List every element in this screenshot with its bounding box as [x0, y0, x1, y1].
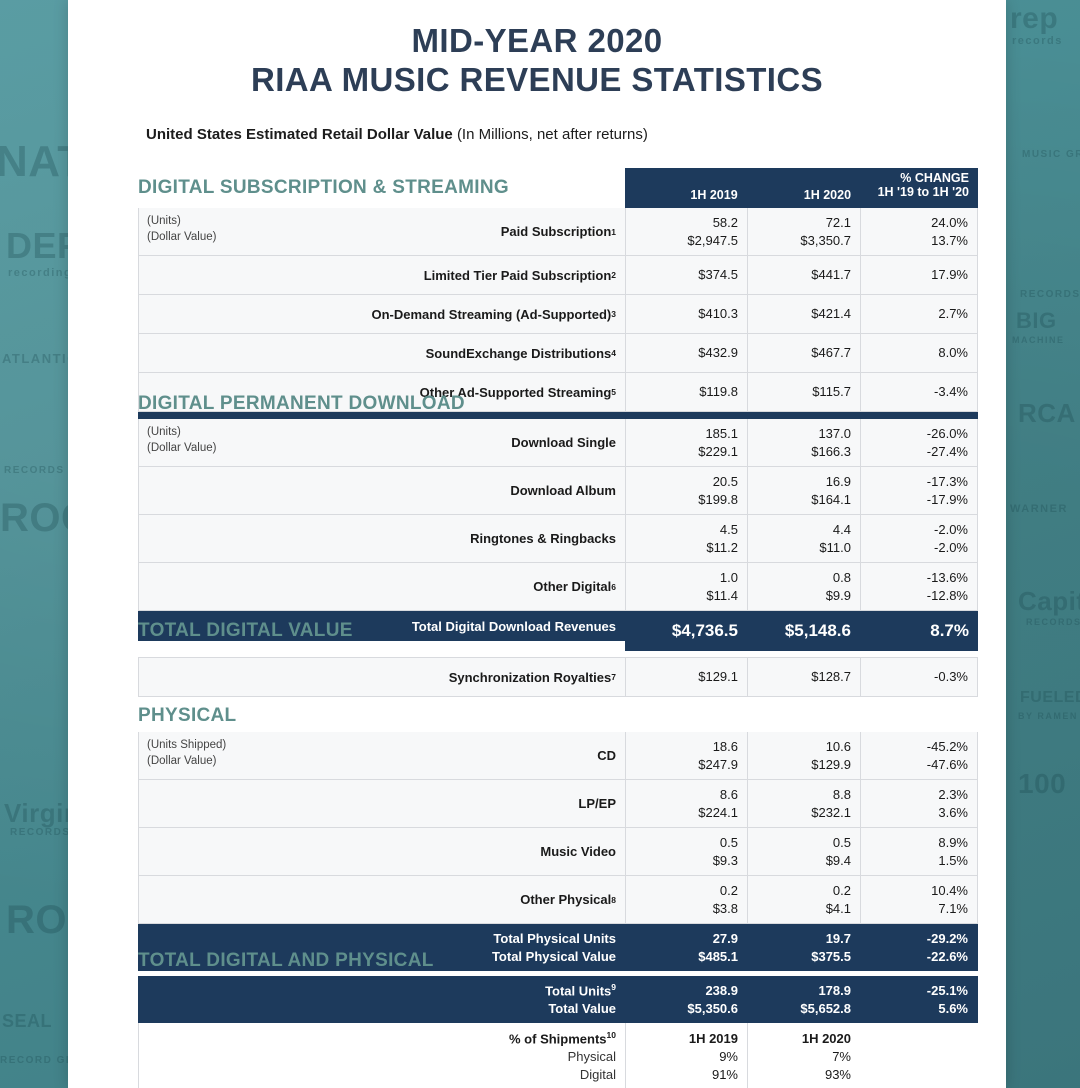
shipments-value: 91% [712, 1066, 738, 1084]
cell-value: $9.9 [826, 587, 851, 605]
shipments-year1: 1H 20199%91% [625, 1023, 747, 1088]
cell-change: 17.9% [860, 256, 978, 294]
cell-value: 0.5 [720, 834, 738, 852]
cell-value: $410.3 [698, 305, 738, 323]
shipments-value: 1H 2019 [689, 1030, 738, 1048]
units-note: (Units Shipped)(Dollar Value) [147, 738, 226, 769]
cell-value: -2.0% [934, 521, 968, 539]
cell-year2: $441.7 [747, 256, 860, 294]
row-label-text: Synchronization Royalties [449, 670, 612, 685]
total-digital-value-bar: $4,736.5$5,148.68.7% [625, 611, 978, 651]
section-heading-grand-total: TOTAL DIGITAL AND PHYSICAL [138, 946, 978, 976]
total-label-line: Total Value [548, 1000, 616, 1018]
row-label: Synchronization Royalties7 [138, 658, 625, 696]
cell-change: 24.0%13.7% [860, 208, 978, 255]
cell-year1: 185.1$229.1 [625, 419, 747, 466]
cell-value: 13.7% [931, 232, 968, 250]
cell-year2: $128.7 [747, 658, 860, 696]
footnote-marker: 2 [611, 270, 616, 280]
cell-change: -45.2%-47.6% [860, 732, 978, 779]
cell-value: -17.9% [927, 491, 968, 509]
total-digital-value-label: TOTAL DIGITAL VALUE [138, 620, 353, 642]
cell-year1: 58.2$2,947.5 [625, 208, 747, 255]
shipments-value: 93% [825, 1066, 851, 1084]
cell-value: $2,947.5 [687, 232, 738, 250]
cell-value: $164.1 [811, 491, 851, 509]
cell-value: 8.0% [938, 344, 968, 362]
cell-value: $374.5 [698, 266, 738, 284]
cell-value: 0.8 [833, 569, 851, 587]
row-label-text: Limited Tier Paid Subscription [424, 268, 612, 283]
cell-year2: 137.0$166.3 [747, 419, 860, 466]
table-row: SoundExchange Distributions4$432.9$467.7… [138, 334, 978, 373]
footnote-marker: 3 [611, 309, 616, 319]
table-block: PHYSICAL(Units Shipped)(Dollar Value)CD1… [138, 700, 978, 971]
record-label-watermark: RECORDS [1020, 290, 1080, 300]
total-year2: 178.9$5,652.8 [747, 976, 860, 1023]
cell-year1: $129.1 [625, 658, 747, 696]
cell-value: $467.7 [811, 344, 851, 362]
record-label-watermark: RECORDS [4, 466, 65, 476]
cell-year1: 1.0$11.4 [625, 563, 747, 610]
subtitle: United States Estimated Retail Dollar Va… [146, 126, 1006, 143]
cell-change: -13.6%-12.8% [860, 563, 978, 610]
cell-value: 17.9% [931, 266, 968, 284]
row-label-text: Download Single [511, 435, 616, 450]
cell-value: $232.1 [811, 804, 851, 822]
cell-value: $9.4 [826, 852, 851, 870]
row-label: (Units Shipped)(Dollar Value)CD [138, 732, 625, 779]
table-row: Download Album20.5$199.816.9$164.1-17.3%… [138, 467, 978, 515]
footnote-marker: 9 [611, 982, 616, 992]
cell-value: 1.0 [720, 569, 738, 587]
section-header-wrap: DIGITAL SUBSCRIPTION & STREAMING1H 20191… [138, 168, 978, 208]
cell-value: 178.9 [818, 982, 851, 1000]
cell-value: $229.1 [698, 443, 738, 461]
cell-value: -2.0% [934, 539, 968, 557]
cell-change: 2.7% [860, 295, 978, 333]
table-block: Synchronization Royalties7$129.1$128.7-0… [138, 657, 978, 697]
total-year1: 238.9$5,350.6 [625, 976, 747, 1023]
cell-year1: $432.9 [625, 334, 747, 372]
record-label-watermark: rep [1010, 4, 1058, 34]
shipments-title: % of Shipments10 [509, 1030, 616, 1048]
shipments-label-stack: % of Shipments10PhysicalDigital [509, 1030, 616, 1083]
cell-value: $166.3 [811, 443, 851, 461]
shipments-blank-cell [860, 1023, 978, 1088]
cell-year2: $421.4 [747, 295, 860, 333]
row-label: (Units)(Dollar Value)Paid Subscription1 [138, 208, 625, 255]
cell-year1: 0.2$3.8 [625, 876, 747, 923]
record-label-watermark: ATLANTIC [2, 352, 78, 365]
cell-value: 1.5% [938, 852, 968, 870]
cell-change: 8.9%1.5% [860, 828, 978, 875]
units-note: (Units)(Dollar Value) [147, 425, 216, 456]
cell-change: -2.0%-2.0% [860, 515, 978, 562]
row-label-text: Paid Subscription [501, 224, 612, 239]
record-label-watermark: RECORDS [1026, 618, 1080, 627]
footnote-marker: 7 [611, 672, 616, 682]
change-bottom: 1H '19 to 1H '20 [878, 185, 969, 199]
row-label: LP/EP [138, 780, 625, 827]
label-stack: Total Units9Total Value [545, 982, 616, 1017]
cell-value: 24.0% [931, 214, 968, 232]
column-header-change: % CHANGE1H '19 to 1H '20 [860, 168, 978, 208]
cell-value: -27.4% [927, 443, 968, 461]
cell-value: 137.0 [818, 425, 851, 443]
report-page: MID-YEAR 2020 RIAA MUSIC REVENUE STATIST… [68, 0, 1006, 1088]
table-row: Ringtones & Ringbacks4.5$11.24.4$11.0-2.… [138, 515, 978, 563]
cell-value: 4.5 [720, 521, 738, 539]
cell-value: -17.3% [927, 473, 968, 491]
cell-value: 58.2 [713, 214, 738, 232]
record-label-watermark: MUSIC GROUP [1022, 150, 1080, 160]
cell-value: $11.4 [706, 587, 738, 605]
row-label: Download Album [138, 467, 625, 514]
shipments-year2: 1H 20207%93% [747, 1023, 860, 1088]
cell-year1: 18.6$247.9 [625, 732, 747, 779]
total-change: -25.1%5.6% [860, 976, 978, 1023]
footnote-marker: 8 [611, 895, 616, 905]
row-label-text: Music Video [540, 844, 616, 859]
record-label-watermark: Capitol [1018, 588, 1080, 614]
section-heading-physical: PHYSICAL [138, 700, 978, 732]
row-label-text: Other Physical [520, 892, 611, 907]
cell-value: -47.6% [927, 756, 968, 774]
total-label-line: Total Units9 [545, 982, 616, 1000]
cell-value: 10.4% [931, 882, 968, 900]
title-line-2: RIAA MUSIC REVENUE STATISTICS [68, 61, 1006, 100]
cell-value: -25.1% [927, 982, 968, 1000]
cell-value: $4.1 [826, 900, 851, 918]
shipments-value: 7% [832, 1048, 851, 1066]
cell-change: -17.3%-17.9% [860, 467, 978, 514]
cell-year1: $410.3 [625, 295, 747, 333]
cell-year1: 20.5$199.8 [625, 467, 747, 514]
cell-year2: 8.8$232.1 [747, 780, 860, 827]
row-label: (Units)(Dollar Value)Download Single [138, 419, 625, 466]
tdv-year1: $4,736.5 [625, 611, 747, 651]
cell-value: 20.5 [713, 473, 738, 491]
cell-change: 8.0% [860, 334, 978, 372]
total-row-label: Total Units9Total Value [138, 976, 625, 1023]
record-label-watermark: WARNER [1010, 504, 1068, 515]
cell-value: 238.9 [705, 982, 738, 1000]
cell-value: $9.3 [713, 852, 738, 870]
cell-value: 72.1 [826, 214, 851, 232]
cell-value: $5,350.6 [687, 1000, 738, 1018]
table-row: LP/EP8.6$224.18.8$232.12.3%3.6% [138, 780, 978, 828]
cell-value: 8.6 [720, 786, 738, 804]
cell-year2: 0.2$4.1 [747, 876, 860, 923]
shipments-row: % of Shipments10PhysicalDigital1H 20199%… [138, 1023, 978, 1088]
cell-value: 0.2 [720, 882, 738, 900]
shipments-sub-label: Digital [580, 1066, 616, 1084]
record-label-watermark: RECORDS [10, 828, 71, 838]
cell-value: 18.6 [713, 738, 738, 756]
column-header-year1: 1H 2019 [625, 168, 747, 208]
cell-value: $3,350.7 [800, 232, 851, 250]
record-label-watermark: FUELED [1020, 690, 1080, 706]
cell-year2: 0.8$9.9 [747, 563, 860, 610]
subtitle-normal: (In Millions, net after returns) [457, 126, 648, 143]
cell-value: 185.1 [705, 425, 738, 443]
tdv-year2: $5,148.6 [747, 611, 860, 651]
table-row: Other Physical80.2$3.80.2$4.110.4%7.1% [138, 876, 978, 924]
record-label-watermark: RCA [1018, 400, 1076, 426]
table-block: TOTAL DIGITAL AND PHYSICALTotal Units9To… [138, 946, 978, 1088]
table-row: Other Digital61.0$11.40.8$9.9-13.6%-12.8… [138, 563, 978, 611]
page-title: MID-YEAR 2020 RIAA MUSIC REVENUE STATIST… [68, 0, 1006, 100]
cell-year2: 4.4$11.0 [747, 515, 860, 562]
cell-year2: 0.5$9.4 [747, 828, 860, 875]
cell-change: 10.4%7.1% [860, 876, 978, 923]
units-note: (Units)(Dollar Value) [147, 214, 216, 245]
record-label-watermark: 100 [1018, 770, 1066, 798]
table-block: TOTAL DIGITAL VALUE$4,736.5$5,148.68.7% [138, 611, 978, 651]
row-label: Other Physical8 [138, 876, 625, 923]
cell-value: $247.9 [698, 756, 738, 774]
cell-value: -13.6% [927, 569, 968, 587]
row-label-text: SoundExchange Distributions [426, 346, 612, 361]
cell-value: 7.1% [938, 900, 968, 918]
cell-value: -12.8% [927, 587, 968, 605]
table-row: Synchronization Royalties7$129.1$128.7-0… [138, 657, 978, 697]
row-label-text: Ringtones & Ringbacks [470, 531, 616, 546]
record-label-watermark: SEAL [2, 1012, 52, 1030]
cell-value: $11.2 [706, 539, 738, 557]
cell-value: $224.1 [698, 804, 738, 822]
cell-year2: 72.1$3,350.7 [747, 208, 860, 255]
cell-value: $421.4 [811, 305, 851, 323]
cell-value: $5,652.8 [800, 1000, 851, 1018]
cell-year1: 4.5$11.2 [625, 515, 747, 562]
total-digital-value-block: TOTAL DIGITAL VALUE$4,736.5$5,148.68.7% [138, 611, 978, 651]
column-header-year2: 1H 2020 [747, 168, 860, 208]
subtitle-bold: United States Estimated Retail Dollar Va… [146, 126, 453, 143]
cell-value: -26.0% [927, 425, 968, 443]
record-label-watermark: BIG [1016, 310, 1057, 332]
cell-value: $3.8 [713, 900, 738, 918]
tdv-change: 8.7% [860, 611, 978, 651]
title-line-1: MID-YEAR 2020 [68, 22, 1006, 61]
cell-year1: 0.5$9.3 [625, 828, 747, 875]
cell-value: $199.8 [698, 491, 738, 509]
column-header-bar: 1H 20191H 2020% CHANGE1H '19 to 1H '20 [625, 168, 978, 208]
record-label-watermark: MACHINE [1012, 336, 1065, 345]
cell-value: 8.9% [938, 834, 968, 852]
cell-value: $11.0 [819, 539, 851, 557]
row-label: On-Demand Streaming (Ad-Supported)3 [138, 295, 625, 333]
cell-value: 8.8 [833, 786, 851, 804]
cell-year2: 10.6$129.9 [747, 732, 860, 779]
record-label-watermark: BY RAMEN [1018, 712, 1078, 721]
table-row: (Units Shipped)(Dollar Value)CD18.6$247.… [138, 732, 978, 780]
cell-value: 4.4 [833, 521, 851, 539]
cell-year1: 8.6$224.1 [625, 780, 747, 827]
cell-value: 10.6 [826, 738, 851, 756]
footnote-marker: 1 [611, 227, 616, 237]
cell-value: -45.2% [927, 738, 968, 756]
table-row: (Units)(Dollar Value)Paid Subscription15… [138, 208, 978, 256]
cell-value: $129.9 [811, 756, 851, 774]
row-label-text: CD [597, 748, 616, 763]
cell-value: 16.9 [826, 473, 851, 491]
cell-value: 2.7% [938, 305, 968, 323]
footnote-marker: 6 [611, 582, 616, 592]
cell-change: -0.3% [860, 658, 978, 696]
table-row: On-Demand Streaming (Ad-Supported)3$410.… [138, 295, 978, 334]
cell-year2: $467.7 [747, 334, 860, 372]
cell-value: $432.9 [698, 344, 738, 362]
cell-value: 2.3% [938, 786, 968, 804]
shipments-sub-label: Physical [568, 1048, 616, 1066]
row-label: Ringtones & Ringbacks [138, 515, 625, 562]
total-row: Total Units9Total Value238.9$5,350.6178.… [138, 976, 978, 1023]
shipments-value: 9% [719, 1048, 738, 1066]
record-label-watermark: records [1012, 36, 1063, 47]
cell-value: 5.6% [938, 1000, 968, 1018]
footnote-marker: 10 [607, 1030, 616, 1040]
section-heading-download: DIGITAL PERMANENT DOWNLOAD [138, 389, 978, 419]
cell-change: 2.3%3.6% [860, 780, 978, 827]
row-label-text: On-Demand Streaming (Ad-Supported) [371, 307, 611, 322]
cell-year2: 16.9$164.1 [747, 467, 860, 514]
cell-value: $129.1 [698, 668, 738, 686]
cell-change: -26.0%-27.4% [860, 419, 978, 466]
cell-value: 0.5 [833, 834, 851, 852]
table-row: Limited Tier Paid Subscription2$374.5$44… [138, 256, 978, 295]
row-label-text: LP/EP [578, 796, 616, 811]
table-block: DIGITAL PERMANENT DOWNLOAD(Units)(Dollar… [138, 389, 978, 641]
cell-value: -0.3% [934, 668, 968, 686]
cell-value: $128.7 [811, 668, 851, 686]
table-row: (Units)(Dollar Value)Download Single185.… [138, 419, 978, 467]
row-label: Limited Tier Paid Subscription2 [138, 256, 625, 294]
shipments-value: 1H 2020 [802, 1030, 851, 1048]
footnote-marker: 4 [611, 348, 616, 358]
change-top: % CHANGE [900, 171, 969, 185]
cell-value: $441.7 [811, 266, 851, 284]
row-label-text: Other Digital [533, 579, 611, 594]
row-label-text: Download Album [510, 483, 616, 498]
cell-year1: $374.5 [625, 256, 747, 294]
row-label: SoundExchange Distributions4 [138, 334, 625, 372]
row-label: Other Digital6 [138, 563, 625, 610]
row-label: Music Video [138, 828, 625, 875]
shipments-label: % of Shipments10PhysicalDigital [138, 1023, 625, 1088]
cell-value: 0.2 [833, 882, 851, 900]
table-row: Music Video0.5$9.30.5$9.48.9%1.5% [138, 828, 978, 876]
cell-value: 3.6% [938, 804, 968, 822]
